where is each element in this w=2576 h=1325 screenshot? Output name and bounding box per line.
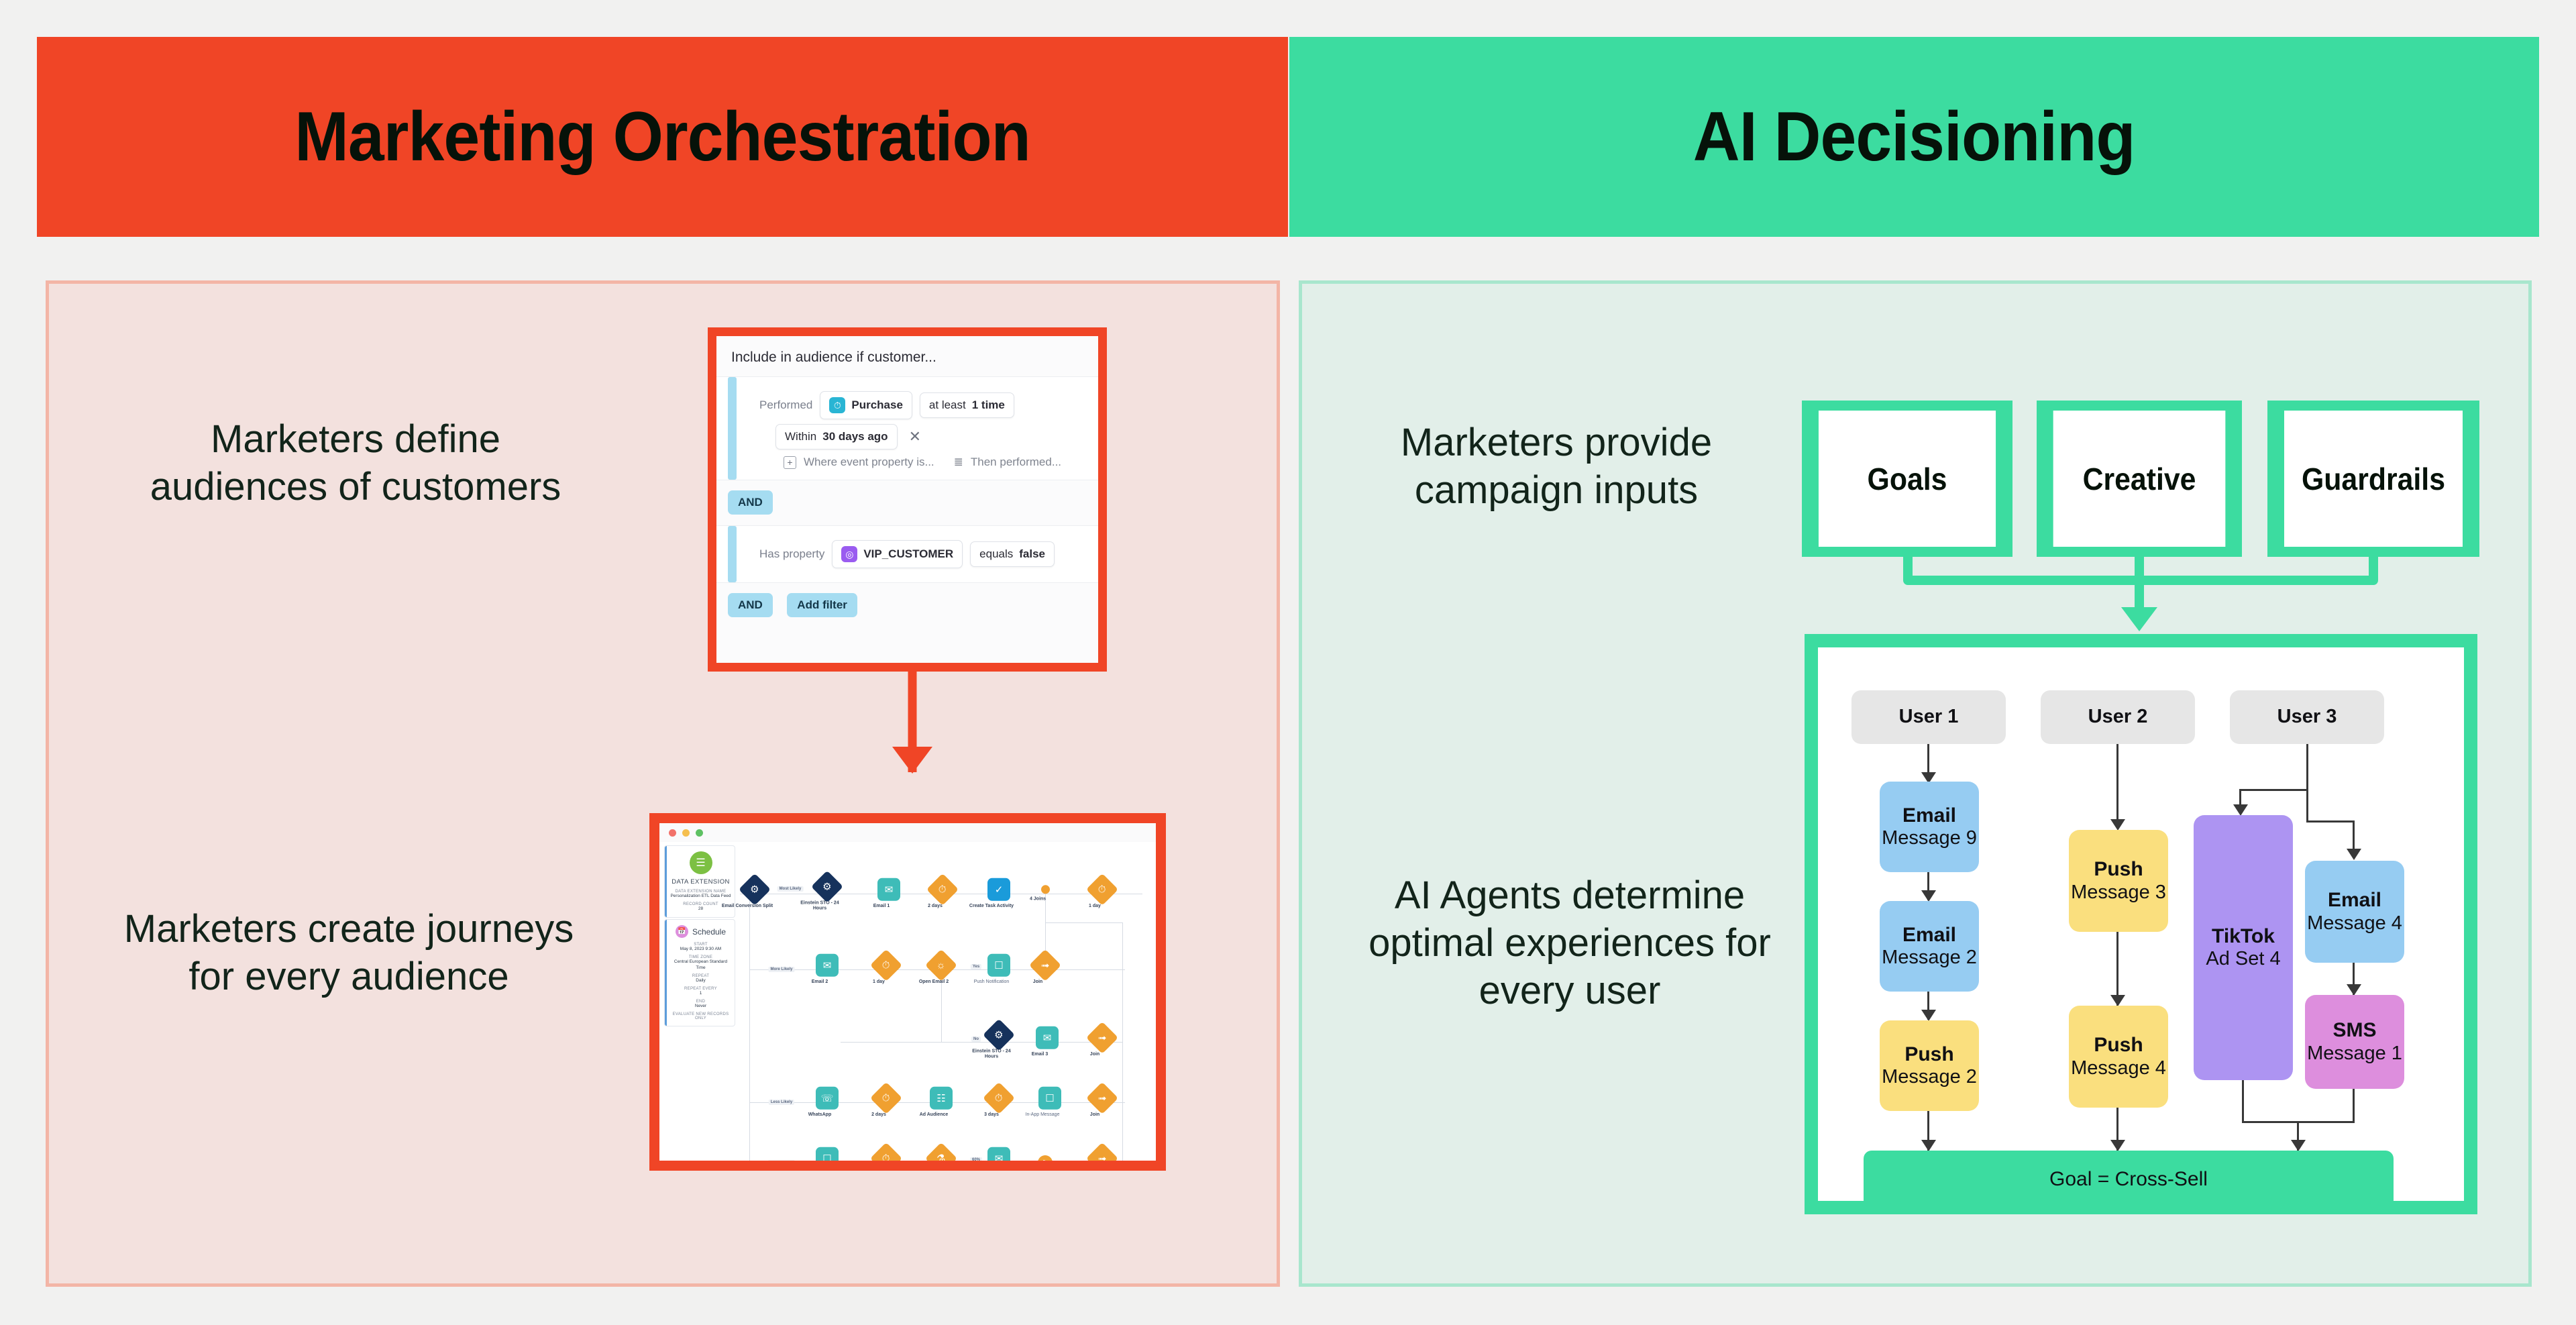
- node-label: Join: [1069, 1112, 1121, 1118]
- einstein-icon: ⚙: [811, 871, 843, 903]
- flow-arrow-head: [2110, 1140, 2125, 1151]
- envelope-icon: ✉: [816, 954, 839, 977]
- channel: TikTok: [2212, 925, 2275, 948]
- node-label: Open Email 2: [908, 979, 960, 985]
- event-chip[interactable]: ⏱ Purchase: [820, 391, 912, 419]
- field-value: Never: [670, 1004, 731, 1009]
- inline-tag-no: No: [971, 1037, 981, 1042]
- node-label: Join: [1012, 979, 1064, 985]
- channel: Email: [1902, 804, 1956, 827]
- rule-label: Performed: [759, 399, 812, 412]
- detail: Message 2: [1882, 947, 1977, 969]
- flow-edge: [2306, 789, 2308, 823]
- envelope-icon: ✉: [987, 1147, 1010, 1161]
- minimize-icon[interactable]: [682, 829, 690, 837]
- journey-node[interactable]: ⚑: [1038, 1155, 1053, 1161]
- node-label: 2 days: [909, 904, 961, 909]
- flow-arrow-head: [2233, 804, 2248, 816]
- schedule-card[interactable]: 📅 Schedule START May 8, 2023 9:30 AM TIM…: [665, 920, 735, 1026]
- flow-arrow-head: [2291, 1140, 2306, 1151]
- flow-edge: [2116, 744, 2118, 825]
- node-label: Einstein STO - 24 Hours: [794, 901, 846, 912]
- node-label: Email 1: [855, 904, 908, 909]
- frequency-chip[interactable]: at least 1 time: [920, 392, 1014, 418]
- journey-node[interactable]: ☐ SMS 1: [808, 1147, 846, 1161]
- node-label: Join: [1069, 1052, 1121, 1057]
- node-label: Email 3: [1014, 1052, 1066, 1057]
- time-window-chip[interactable]: Within 30 days ago: [775, 424, 898, 449]
- detail: Message 1: [2307, 1043, 2402, 1065]
- flow-arrow-head: [2110, 995, 2125, 1006]
- journey-node[interactable]: ✉ Email 2: [808, 954, 846, 985]
- edge: [749, 894, 750, 1161]
- audience-rule-row[interactable]: Has property ◎ VIP_CUSTOMER equals false: [716, 525, 1098, 583]
- caption-marketers-define-audiences: Marketers define audiences of customers: [121, 416, 590, 511]
- frequency-prefix: at least: [929, 399, 966, 412]
- flow-node-email-message-9[interactable]: Email Message 9: [1880, 782, 1979, 872]
- node-label: 4 Joins: [1012, 896, 1064, 902]
- edge: [1122, 922, 1123, 1161]
- journey-node[interactable]: ☏ WhatsApp: [808, 1087, 846, 1118]
- input-card-creative[interactable]: Creative: [2037, 401, 2242, 557]
- property-name: VIP_CUSTOMER: [863, 547, 953, 561]
- flow-arrow-head: [2347, 849, 2361, 860]
- flow-arrow-head: [1921, 1140, 1936, 1151]
- user-label: User 2: [2088, 706, 2148, 728]
- window-chrome: [659, 823, 1156, 842]
- join-icon: ➟: [1086, 1082, 1118, 1114]
- flow-arrow-head: [2110, 819, 2125, 831]
- channel: Email: [1902, 924, 1956, 947]
- plus-box-icon[interactable]: +: [784, 456, 796, 469]
- node-label: 1 day: [853, 979, 905, 985]
- branch-tag: Least Likely: [768, 1160, 795, 1161]
- journey-node[interactable]: ✓ Create Task Activity: [980, 878, 1018, 909]
- input-card-goals[interactable]: Goals: [1802, 401, 2012, 557]
- user-pill-3[interactable]: User 3: [2230, 690, 2384, 744]
- flow-arrow-head: [1921, 890, 1936, 902]
- node-label: 3 days: [965, 1112, 1018, 1118]
- journey-node[interactable]: ⚙ Email Conversion Split: [736, 878, 773, 909]
- connector-stem: [2135, 576, 2144, 611]
- journey-node[interactable]: ☐ In-App Message: [1031, 1087, 1069, 1118]
- journey-node[interactable]: ✉ Email 4: [980, 1147, 1018, 1161]
- caption-ai-agents-determine: AI Agents determine optimal experiences …: [1355, 872, 1784, 1014]
- header-right-title: AI Decisioning: [1693, 97, 2135, 177]
- node-label: Push Notification: [965, 979, 1018, 985]
- flow-edge: [2239, 789, 2308, 791]
- flow-node-email-message-2[interactable]: Email Message 2: [1880, 901, 1979, 992]
- schedule-heading: Schedule: [692, 927, 726, 937]
- clock-icon: ⏱: [829, 397, 845, 413]
- node-label: Ad Audience: [908, 1112, 960, 1118]
- journey-node[interactable]: ⚙ Einstein STO - 24 Hours: [980, 1024, 1018, 1061]
- journey-node[interactable]: ⏱ 3 days: [980, 1087, 1018, 1118]
- caption-marketers-provide-inputs: Marketers provide campaign inputs: [1335, 419, 1778, 515]
- node-label: WhatsApp: [794, 1112, 846, 1118]
- comparison-value: false: [1019, 547, 1045, 561]
- flask-icon: ⚗: [925, 1143, 957, 1161]
- where-event-property-action[interactable]: Where event property is...: [804, 456, 934, 469]
- channel: SMS: [2332, 1019, 2376, 1042]
- einstein-icon: ⚙: [983, 1019, 1015, 1051]
- journey-node[interactable]: ☼ Open Email 2: [922, 954, 960, 985]
- user-pill-2[interactable]: User 2: [2041, 690, 2195, 744]
- close-icon[interactable]: ✕: [909, 428, 921, 445]
- channel: Email: [2328, 889, 2381, 912]
- whatsapp-icon: ☏: [816, 1087, 839, 1110]
- clock-icon: ⏱: [1086, 873, 1118, 906]
- journey-node[interactable]: ☷ Ad Audience: [922, 1087, 960, 1118]
- detail: Message 3: [2071, 882, 2166, 904]
- branch-tag: Most Likely: [777, 886, 804, 892]
- journey-node[interactable]: ➟ Join: [1083, 1087, 1121, 1118]
- clock-icon: ⏱: [870, 1143, 902, 1161]
- target-icon: ◎: [841, 546, 857, 562]
- caption-marketers-create-journeys: Marketers create journeys for every audi…: [114, 906, 584, 1001]
- channel: Push: [2094, 1034, 2143, 1057]
- flow-node-push-message-2[interactable]: Push Message 2: [1880, 1020, 1979, 1111]
- audience-builder-screenshot: Include in audience if customer... Perfo…: [708, 327, 1107, 672]
- journey-node[interactable]: ⏱ 2 days: [924, 878, 961, 909]
- journey-node[interactable]: ➟ Join: [1083, 1026, 1121, 1057]
- rule-accent-bar: [728, 526, 737, 582]
- entry-source-heading: DATA EXTENSION: [670, 878, 731, 886]
- then-performed-action[interactable]: Then performed...: [971, 456, 1061, 469]
- flow-node-push-message-4[interactable]: Push Message 4: [2069, 1006, 2168, 1108]
- calendar-icon: 📅: [676, 925, 688, 938]
- user-pill-1[interactable]: User 1: [1851, 690, 2006, 744]
- comparison-chip[interactable]: equals false: [970, 541, 1055, 567]
- branch-tag: Less Likely: [769, 1100, 794, 1105]
- clock-icon: ⏱: [870, 1082, 902, 1114]
- header-ai-decisioning: AI Decisioning: [1289, 37, 2539, 237]
- mobile-icon: ☐: [1038, 1087, 1061, 1110]
- channel: Push: [1904, 1043, 1953, 1066]
- join-icon: ➟: [1086, 1022, 1118, 1054]
- node-label: Email 2: [794, 979, 846, 985]
- user-label: User 1: [1899, 706, 1959, 728]
- flow-node-email-message-4[interactable]: Email Message 4: [2305, 861, 2404, 963]
- add-filter-button[interactable]: Add filter: [787, 593, 857, 617]
- rule-accent-bar: [728, 377, 737, 480]
- field-key: EVALUATE NEW RECORDS ONLY: [670, 1012, 731, 1020]
- window-value: 30 days ago: [822, 430, 888, 443]
- diagram-root: Marketing Orchestration AI Decisioning M…: [0, 0, 2576, 1325]
- join-icon: ➟: [1086, 1143, 1118, 1161]
- frequency-value: 1 time: [972, 399, 1005, 412]
- node-label: Einstein STO - 24 Hours: [965, 1049, 1018, 1061]
- clock-icon: ⏱: [983, 1082, 1015, 1114]
- node-label: 1 day: [1069, 904, 1121, 909]
- connector-arrow-head: [2121, 607, 2157, 631]
- journey-node[interactable]: ⚙ Einstein STO - 24 Hours: [808, 876, 846, 912]
- edge: [1045, 922, 1123, 923]
- envelope-icon: ✉: [1036, 1026, 1059, 1049]
- flow-edge: [2306, 820, 2355, 823]
- journey-canvas[interactable]: Most Likely More Likely Less Likely Leas…: [740, 842, 1156, 1161]
- check-icon: ✓: [987, 878, 1010, 901]
- operator-and-1[interactable]: AND: [728, 490, 773, 515]
- mobile-icon: ☐: [987, 954, 1010, 977]
- header-left-title: Marketing Orchestration: [294, 97, 1030, 177]
- event-name: Purchase: [851, 399, 903, 412]
- journey-node[interactable]: 4 Joins: [1026, 885, 1064, 902]
- channel: Push: [2094, 858, 2143, 881]
- window-prefix: Within: [785, 430, 816, 443]
- detail: Message 9: [1882, 827, 1977, 849]
- flow-arrow-head: [1921, 1010, 1936, 1021]
- journey-sidebar: ☰ DATA EXTENSION DATA EXTENSION NAME Per…: [665, 846, 735, 1028]
- audience-rule-row[interactable]: Performed ⏱ Purchase at least 1 time Wit…: [716, 376, 1098, 480]
- flow-edge: [2306, 744, 2308, 791]
- flow-edge: [2242, 1080, 2244, 1123]
- journey-node[interactable]: ⏱ 1 day: [1083, 878, 1121, 909]
- maximize-icon[interactable]: [696, 829, 703, 837]
- audience-builder-title: Include in audience if customer...: [716, 336, 1098, 366]
- flow-edge: [2353, 1089, 2355, 1123]
- journey-node[interactable]: ⏱ 2 days: [867, 1087, 905, 1118]
- journey-node[interactable]: ⏱ 3 days: [867, 1147, 905, 1161]
- clock-icon: ⏱: [926, 873, 959, 906]
- join-icon: ➟: [1029, 949, 1061, 982]
- flag-icon: ⚑: [1038, 1155, 1053, 1161]
- field-value: Daily: [670, 978, 731, 984]
- join-dot-icon: [1041, 885, 1050, 894]
- flow-node-sms-message-1[interactable]: SMS Message 1: [2305, 995, 2404, 1089]
- clock-icon: ⏱: [870, 949, 902, 982]
- journey-builder-screenshot: ☰ DATA EXTENSION DATA EXTENSION NAME Per…: [649, 813, 1166, 1171]
- flow-node-push-message-3[interactable]: Push Message 3: [2069, 830, 2168, 932]
- node-label: In-App Message: [1016, 1112, 1069, 1118]
- arrow-head: [892, 747, 932, 774]
- detail: Message 4: [2071, 1057, 2166, 1079]
- ai-flow-canvas: User 1 User 2 User 3 Email Message 9 Ema…: [1818, 647, 2464, 1201]
- detail: Ad Set 4: [2206, 948, 2280, 970]
- flow-node-tiktok-ad-set-4[interactable]: TikTok Ad Set 4: [2194, 815, 2293, 1080]
- field-value: 1: [670, 991, 731, 996]
- input-card-guardrails[interactable]: Guardrails: [2267, 401, 2479, 557]
- comparison-prefix: equals: [979, 547, 1013, 561]
- field-value: May 8, 2023 9:30 AM: [670, 947, 731, 952]
- journey-node[interactable]: ⏱ 1 day: [867, 954, 905, 985]
- close-icon[interactable]: [669, 829, 676, 837]
- node-label: 2 days: [853, 1112, 905, 1118]
- header-marketing-orchestration: Marketing Orchestration: [37, 37, 1288, 237]
- list-icon: ☰: [690, 851, 712, 874]
- detail: Message 2: [1882, 1066, 1977, 1088]
- orange-down-arrow: [892, 672, 932, 772]
- field-value: Central European Standard Time: [670, 959, 731, 970]
- journey-node[interactable]: ✉ Email 1: [870, 878, 908, 909]
- mobile-icon: ☐: [816, 1147, 839, 1161]
- engagement-icon: ☼: [925, 949, 957, 982]
- journey-node[interactable]: ➟ Join: [1083, 1147, 1121, 1161]
- split-icon: ⚙: [739, 873, 771, 906]
- node-label: Email Conversion Split: [721, 904, 773, 909]
- envelope-icon: ✉: [877, 878, 900, 901]
- rule-label: Has property: [759, 547, 824, 561]
- operator-and-2[interactable]: AND: [728, 593, 773, 617]
- ad-audience-icon: ☷: [930, 1087, 953, 1110]
- input-card-creative-label: Creative: [2053, 411, 2226, 547]
- journey-node[interactable]: ✉ Email 3: [1028, 1026, 1066, 1057]
- goal-label: Goal = Cross-Sell: [2049, 1168, 2208, 1191]
- detail: Message 4: [2307, 912, 2402, 935]
- node-label: Create Task Activity: [965, 904, 1018, 909]
- flow-arrow-head: [2347, 984, 2361, 996]
- journey-node[interactable]: ➟ Join: [1026, 954, 1064, 985]
- branch-tag: More Likely: [768, 967, 794, 972]
- ai-flow-box: User 1 User 2 User 3 Email Message 9 Ema…: [1805, 634, 2477, 1214]
- journey-node[interactable]: ⚗ Path Optimizer: [922, 1147, 960, 1161]
- goal-bar[interactable]: Goal = Cross-Sell: [1864, 1151, 2394, 1208]
- property-chip[interactable]: ◎ VIP_CUSTOMER: [832, 540, 963, 568]
- filter-icon[interactable]: ≣: [954, 456, 963, 469]
- input-card-guardrails-label: Guardrails: [2284, 411, 2463, 547]
- user-label: User 3: [2277, 706, 2337, 728]
- input-card-goals-label: Goals: [1819, 411, 1996, 547]
- field-value: Personalization ETL Data Feed: [670, 894, 731, 899]
